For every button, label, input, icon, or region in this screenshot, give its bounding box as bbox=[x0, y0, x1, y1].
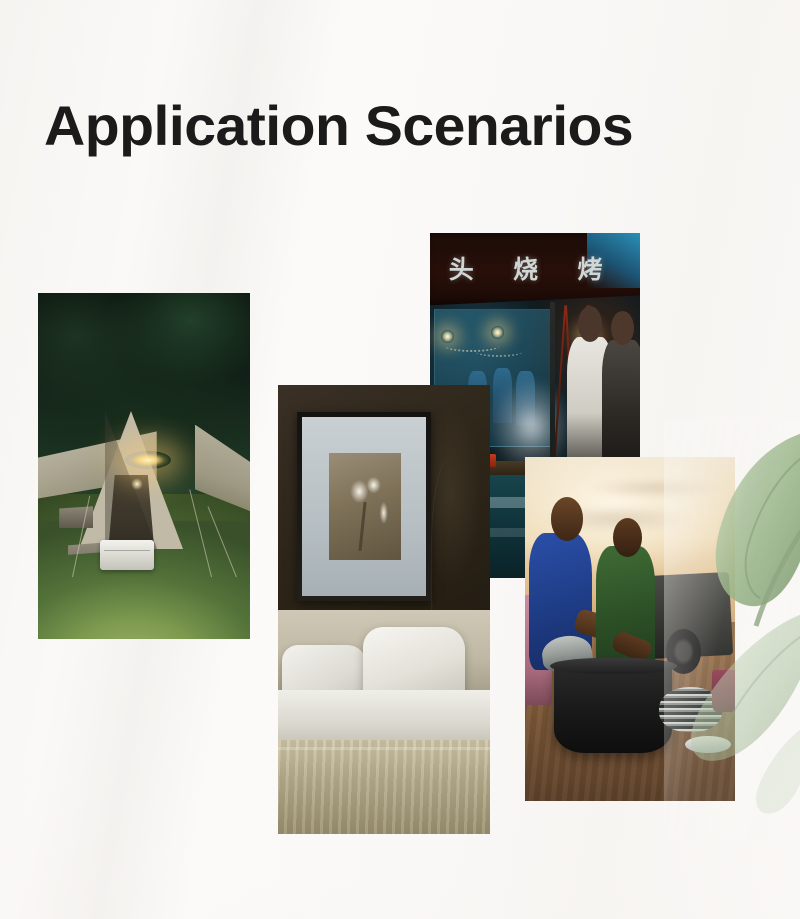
wash-basin bbox=[554, 663, 672, 752]
leaf-small bbox=[756, 720, 800, 814]
small-bucket bbox=[712, 670, 735, 711]
cloud-band bbox=[588, 478, 722, 499]
tent-lantern-glow bbox=[125, 451, 171, 469]
signboard-char-1: 头 bbox=[449, 250, 476, 286]
picture-mat bbox=[302, 417, 426, 596]
cooler-box bbox=[100, 540, 154, 570]
signboard-char-3: 烤 bbox=[577, 250, 604, 286]
bbq-signboard-text: 头 烧 烤 bbox=[430, 250, 623, 286]
camping-tent-photo bbox=[38, 293, 250, 639]
leaf-vein-lower bbox=[726, 628, 800, 726]
signboard-char-2: 烧 bbox=[513, 250, 540, 286]
leaf-stem bbox=[756, 512, 800, 626]
page-canvas: Application Scenarios 头 烧 烤 bbox=[0, 0, 800, 919]
hotel-bedroom-photo bbox=[278, 385, 490, 834]
floral-artwork bbox=[329, 453, 401, 560]
page-title: Application Scenarios bbox=[44, 93, 633, 159]
bbq-cook-figure bbox=[602, 340, 640, 471]
bbq-stall-post bbox=[550, 302, 555, 461]
children-washing-dishes-photo bbox=[525, 457, 735, 801]
bed-duvet bbox=[278, 740, 490, 834]
leaf-vein-upper bbox=[746, 450, 800, 598]
metal-plate bbox=[685, 736, 731, 753]
bbq-light-bulb bbox=[491, 326, 504, 339]
framed-picture bbox=[297, 412, 431, 601]
camp-table bbox=[59, 506, 93, 528]
bbq-hanging-chain bbox=[476, 347, 522, 357]
